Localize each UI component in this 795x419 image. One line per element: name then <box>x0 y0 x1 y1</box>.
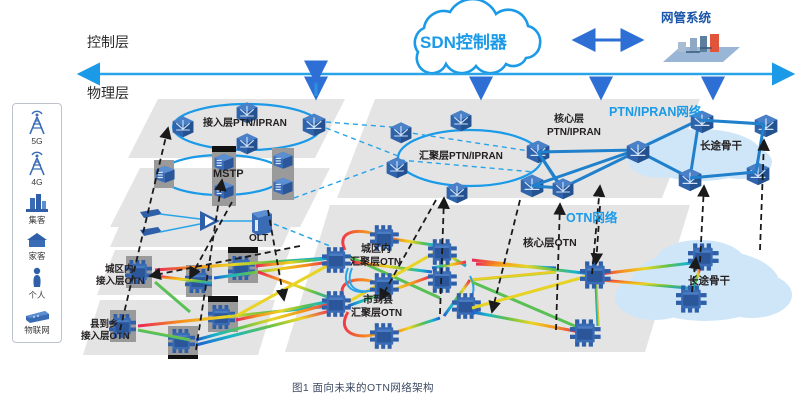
ptn-backbone-label: 长途骨干 <box>700 141 742 152</box>
figure-canvas: 5G 4G 集客 家客 <box>0 0 795 419</box>
legend-item-5g: 5G <box>25 110 49 146</box>
legend-label-iot: 物联网 <box>24 324 50 336</box>
mstp-plate-north-band <box>212 146 236 152</box>
legend-label-individual: 个人 <box>28 289 45 301</box>
otn-access-county-label-line2: 接入层OTN <box>81 332 130 342</box>
nms-title-label: 网管系统 <box>661 12 711 25</box>
otn-backbone-label: 长途骨干 <box>688 276 730 287</box>
legend-label-5g: 5G <box>31 136 42 146</box>
legend-item-iot: 物联网 <box>23 306 51 336</box>
ptn-access-ring-label: 接入层PTN/IPRAN <box>203 119 287 130</box>
sdn-controller-label: SDN控制器 <box>420 34 507 52</box>
home-icon <box>24 230 50 250</box>
ptn-backbone-node-right <box>755 115 778 138</box>
legend-item-individual: 个人 <box>27 267 47 301</box>
network-diagram-svg <box>0 0 795 419</box>
figure-caption: 图1 面向未来的OTN网络架构 <box>292 383 434 394</box>
otn-network-title: OTN网络 <box>566 212 617 225</box>
mstp-ring-label: MSTP <box>213 169 244 181</box>
otn-agg-urban-label-line2: 汇聚层OTN <box>350 258 401 269</box>
otn-access-urban-label-line2: 接入层OTN <box>96 277 145 287</box>
person-icon <box>27 267 47 289</box>
otn-access-urban-label-line1: 城区内 <box>105 265 134 275</box>
olt-label: OLT <box>249 234 268 245</box>
cell-tower-icon <box>25 151 49 177</box>
legend-item-enterprise: 集客 <box>24 192 50 226</box>
ptn-network-title: PTN/IPRAN网络 <box>609 106 701 119</box>
otn-agg-urban-label-line1: 城区内 <box>361 245 391 256</box>
control-layer-label: 控制层 <box>87 35 129 50</box>
otn-access-county-label-line1: 县到乡 <box>90 320 119 330</box>
service-legend: 5G 4G 集客 家客 <box>12 103 62 343</box>
legend-label-home: 家客 <box>28 250 45 262</box>
physical-layer-label: 物理层 <box>87 86 129 101</box>
legend-label-enterprise: 集客 <box>28 214 45 226</box>
otn-agg-city-label-line1: 市到县 <box>363 296 393 307</box>
cell-tower-icon <box>25 110 49 136</box>
iot-gateway-icon <box>23 306 51 324</box>
control-to-physical-arrows <box>316 78 713 96</box>
legend-item-4g: 4G <box>25 151 49 187</box>
enterprise-building-icon <box>24 192 50 214</box>
otn-core-label: 核心层OTN <box>523 238 577 249</box>
ptn-core-label-line1: 核心层 <box>554 115 584 126</box>
nms-device-icon <box>663 34 740 62</box>
legend-item-home: 家客 <box>24 230 50 262</box>
otn-agg-city-label-line2: 汇聚层OTN <box>351 309 402 320</box>
ptn-core-label-line2: PTN/IPRAN <box>547 128 601 139</box>
legend-label-4g: 4G <box>31 177 42 187</box>
ptn-agg-ring-label: 汇聚层PTN/IPRAN <box>419 152 503 163</box>
